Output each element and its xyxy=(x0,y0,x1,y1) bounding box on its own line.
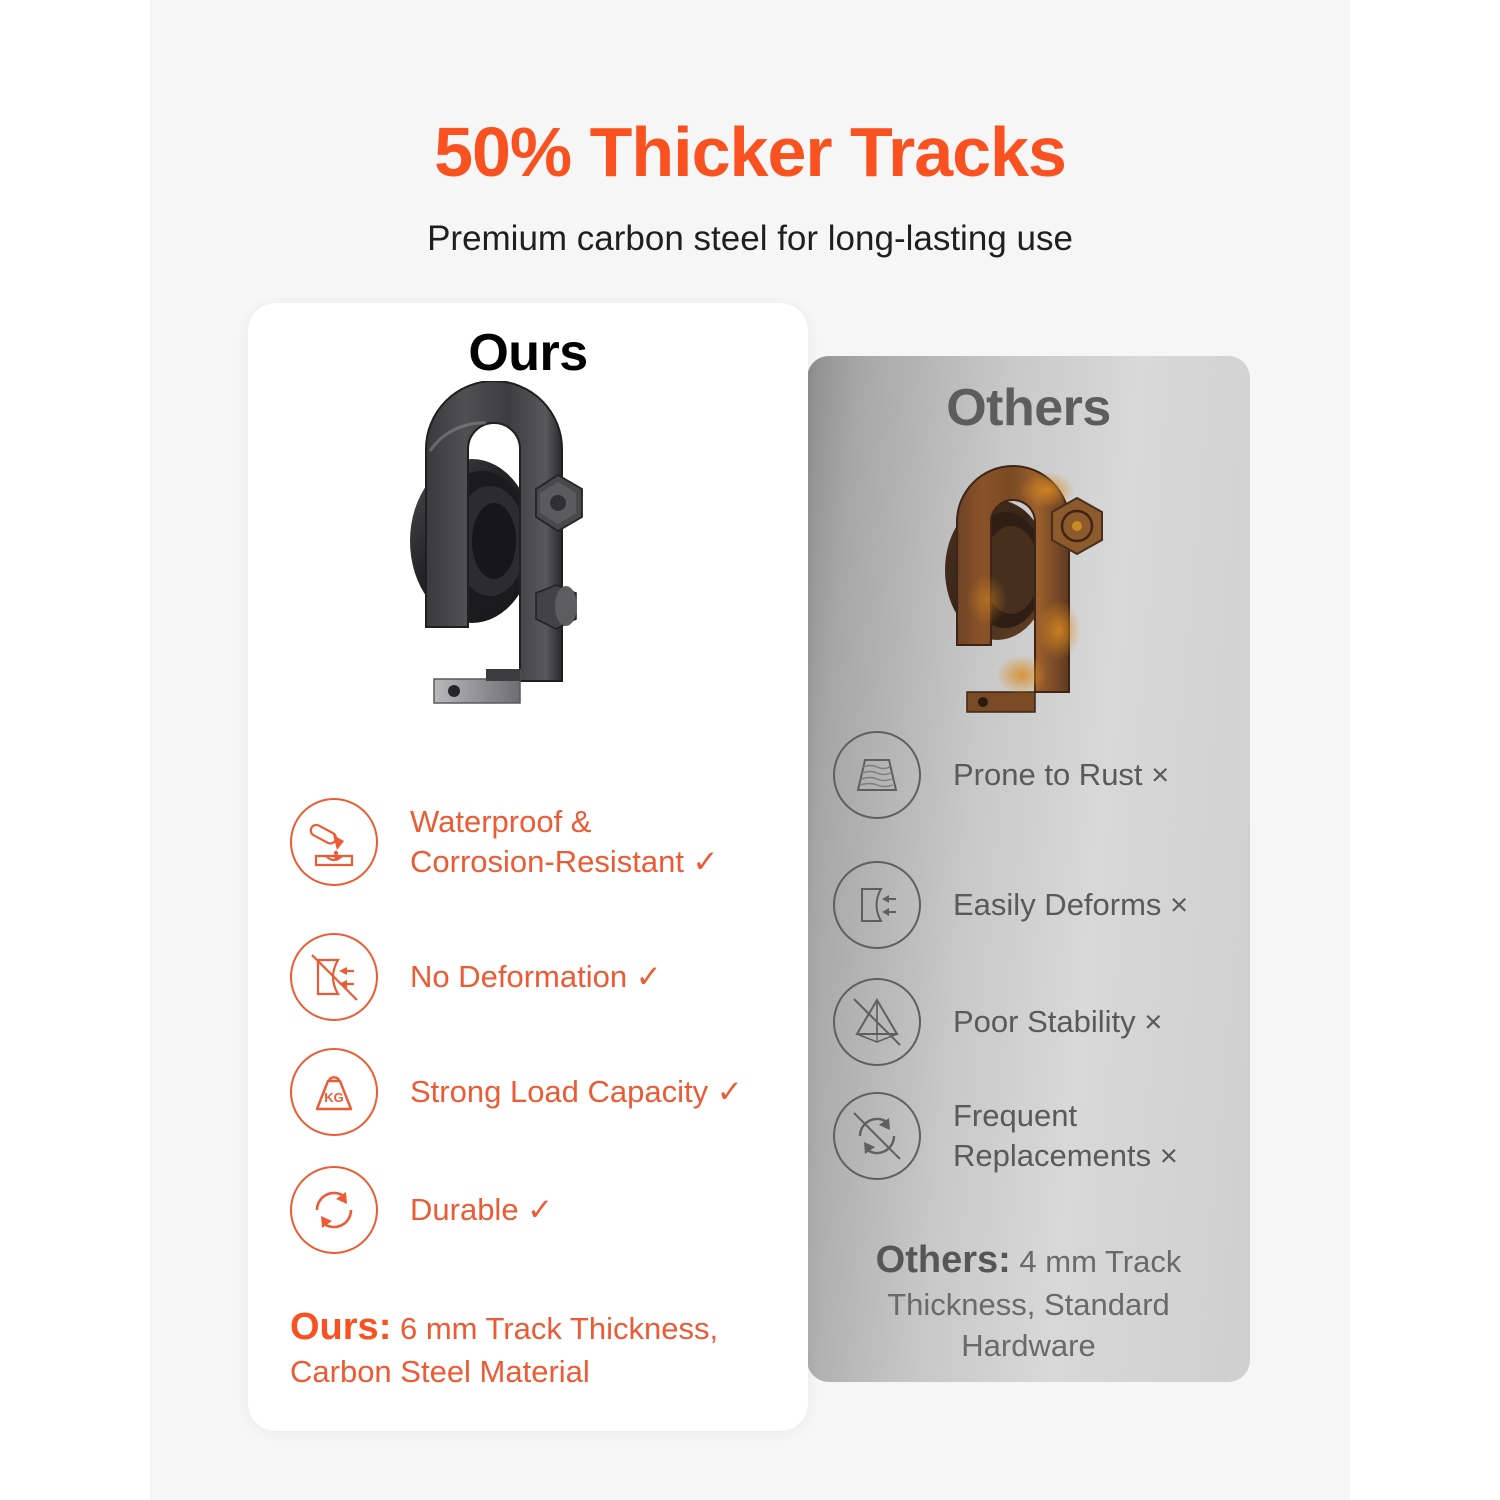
others-card-title: Others xyxy=(807,378,1250,438)
poor-stability-pyramid-icon xyxy=(833,978,921,1066)
svg-text:KG: KG xyxy=(324,1090,344,1105)
others-feature-row: Prone to Rust × xyxy=(833,731,1169,819)
frequent-replacements-icon xyxy=(833,1092,921,1180)
promo-page: 50% Thicker Tracks Premium carbon steel … xyxy=(150,0,1350,1500)
rust-texture-icon xyxy=(833,731,921,819)
ours-feature-label: Waterproof & Corrosion-Resistant ✓ xyxy=(410,802,719,881)
others-feature-label: Prone to Rust × xyxy=(953,755,1169,795)
others-feature-row: Easily Deforms × xyxy=(833,861,1188,949)
ours-feature-label: No Deformation ✓ xyxy=(410,957,662,997)
ours-feature-row: Waterproof & Corrosion-Resistant ✓ xyxy=(290,798,719,886)
page-subheadline: Premium carbon steel for long-lasting us… xyxy=(150,216,1350,262)
black-roller-image xyxy=(390,381,650,726)
ours-footer-label: Ours: xyxy=(290,1306,391,1348)
ours-footer: Ours: 6 mm Track Thickness, Carbon Steel… xyxy=(248,1303,808,1393)
others-footer: Others: 4 mm Track Thickness, Standard H… xyxy=(807,1236,1250,1366)
others-feature-label: Frequent Replacements × xyxy=(953,1096,1178,1175)
others-comparison-card: Others xyxy=(807,356,1250,1382)
rusty-roller-image xyxy=(927,430,1137,735)
others-footer-label: Others: xyxy=(876,1239,1011,1281)
deforms-icon xyxy=(833,861,921,949)
ours-feature-label: Durable ✓ xyxy=(410,1190,553,1230)
ours-feature-label: Strong Load Capacity ✓ xyxy=(410,1072,743,1112)
waterproof-drop-icon xyxy=(290,798,378,886)
others-feature-row: Poor Stability × xyxy=(833,978,1162,1066)
ours-feature-row: Durable ✓ xyxy=(290,1166,553,1254)
others-feature-label: Poor Stability × xyxy=(953,1002,1162,1042)
ours-feature-row: KG Strong Load Capacity ✓ xyxy=(290,1048,743,1136)
load-capacity-kg-icon: KG xyxy=(290,1048,378,1136)
others-feature-row: Frequent Replacements × xyxy=(833,1092,1178,1180)
others-feature-label: Easily Deforms × xyxy=(953,885,1188,925)
ours-comparison-card: Ours xyxy=(248,303,808,1431)
durable-cycle-icon xyxy=(290,1166,378,1254)
no-deformation-icon xyxy=(290,933,378,1021)
ours-feature-row: No Deformation ✓ xyxy=(290,933,662,1021)
page-headline: 50% Thicker Tracks xyxy=(150,116,1350,190)
ours-card-title: Ours xyxy=(248,323,808,383)
